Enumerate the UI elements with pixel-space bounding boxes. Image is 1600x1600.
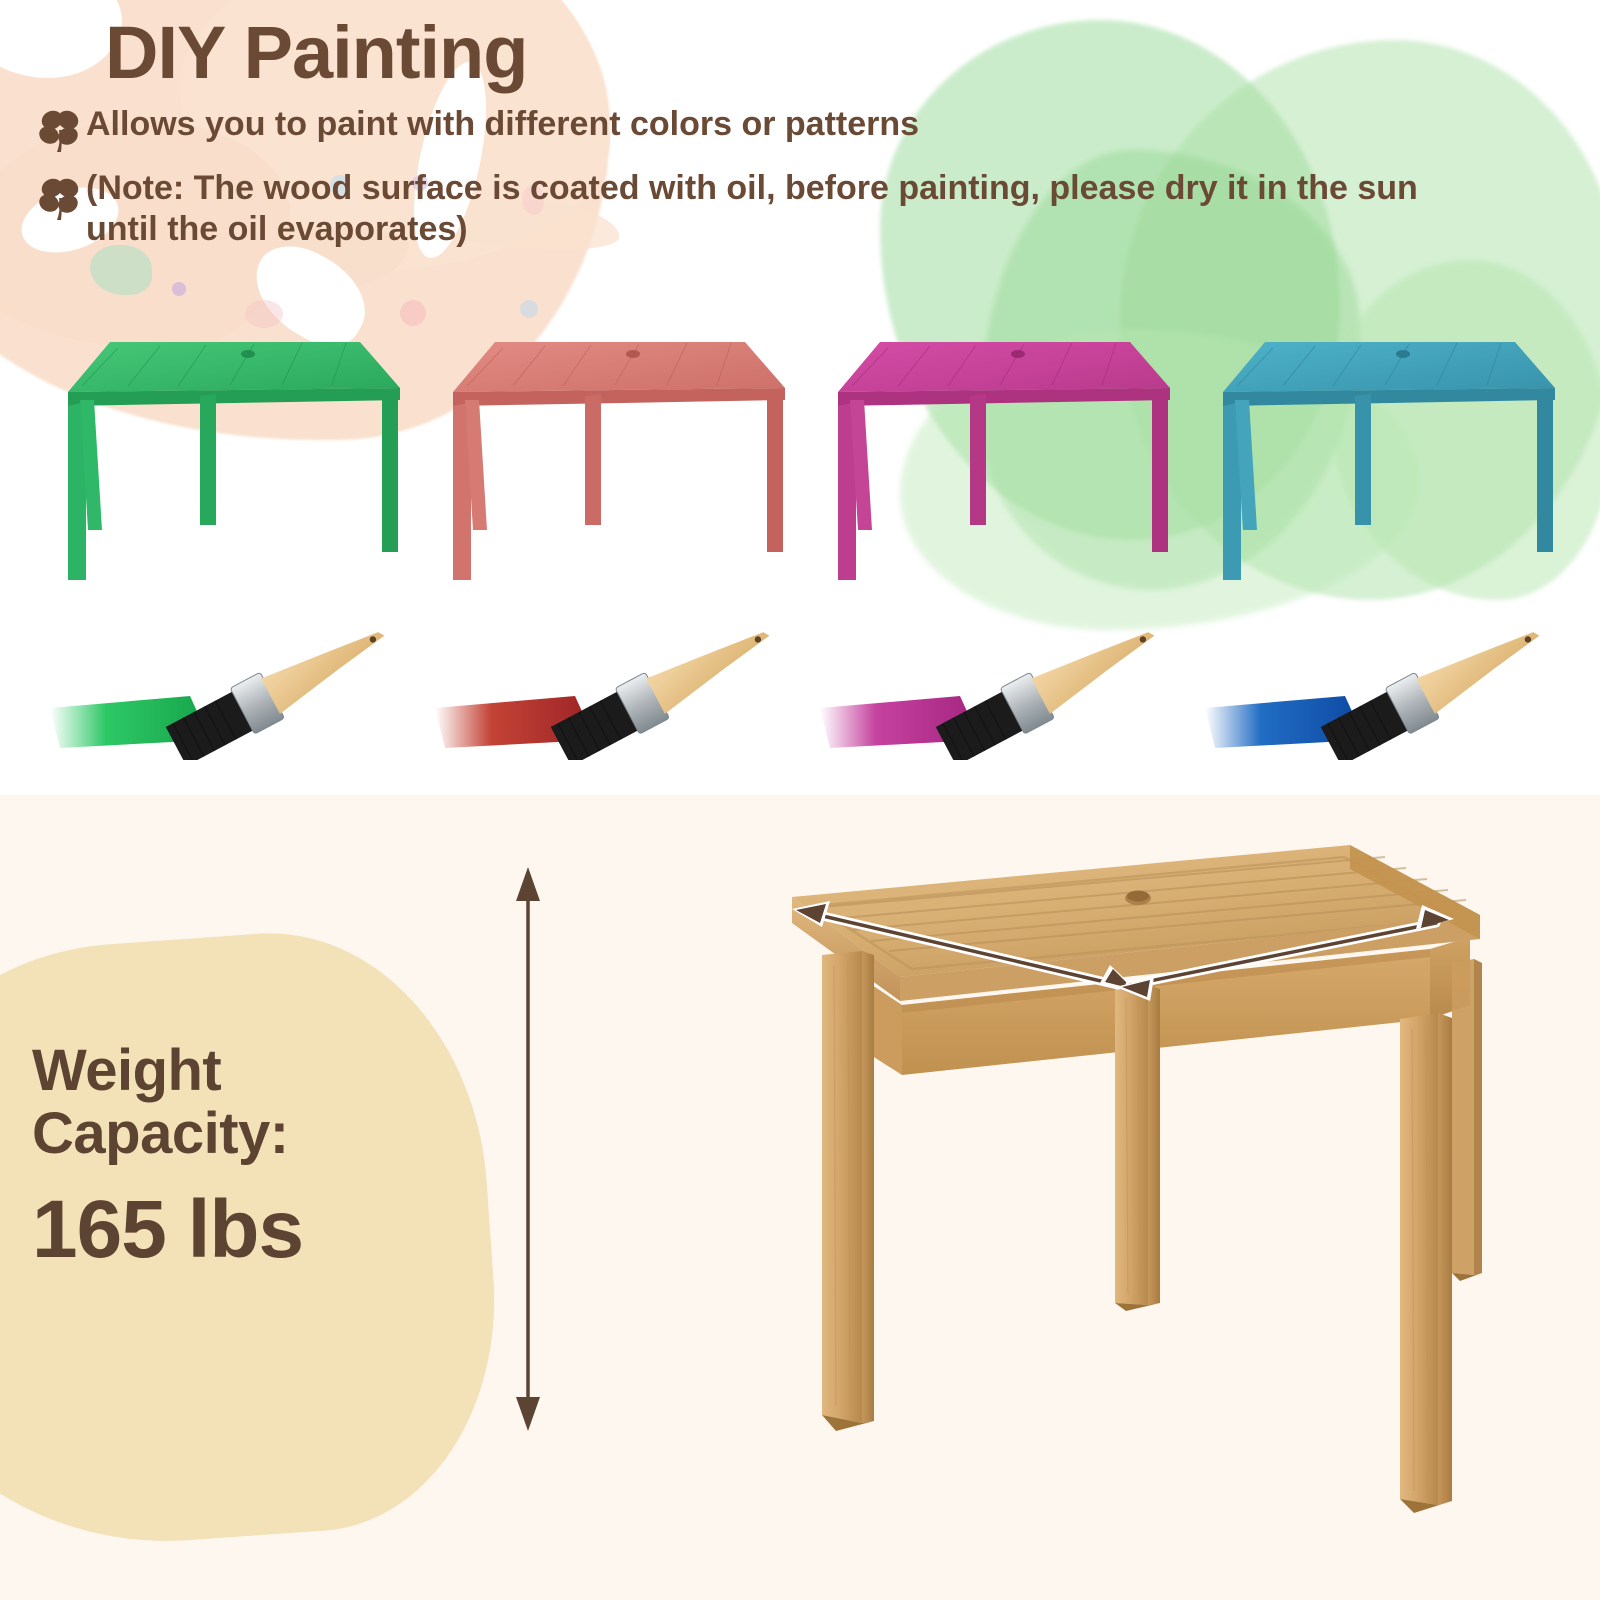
paint-droplet xyxy=(172,282,186,296)
red-paint-brush xyxy=(435,600,795,760)
wooden-table-illustration xyxy=(470,805,1600,1595)
feature-bullet-2: (Note: The wood surface is coated with o… xyxy=(34,168,1600,251)
weight-capacity-label-line2: Capacity: xyxy=(32,1103,452,1166)
pink-paint-brush xyxy=(820,600,1180,760)
clover-icon xyxy=(34,174,86,222)
color-options-row xyxy=(0,330,1600,770)
weight-capacity-block: Weight Capacity: 165 lbs xyxy=(32,1040,452,1277)
paint-droplet xyxy=(400,300,426,326)
diy-painting-section: DIY Painting Allows you to paint with di… xyxy=(0,0,1600,795)
blue-paint-brush xyxy=(1205,600,1565,760)
feature-bullet-1: Allows you to paint with different color… xyxy=(34,100,1600,154)
clover-icon xyxy=(34,106,86,154)
paint-droplet xyxy=(245,300,283,328)
dimensions-section: Weight Capacity: 165 lbs xyxy=(0,795,1600,1600)
weight-capacity-label: Weight Capacity: xyxy=(32,1040,452,1165)
weight-capacity-label-line1: Weight xyxy=(32,1040,452,1103)
blue-table-option xyxy=(1165,330,1565,770)
pink-table-option xyxy=(780,330,1180,770)
paint-droplet xyxy=(520,300,538,318)
page-title: DIY Painting xyxy=(105,14,1600,92)
red-table-option xyxy=(395,330,795,770)
feature-bullet-1-text: Allows you to paint with different color… xyxy=(86,100,919,145)
paint-droplet xyxy=(90,245,152,295)
feature-bullet-2-text: (Note: The wood surface is coated with o… xyxy=(86,168,1496,251)
weight-capacity-value: 165 lbs xyxy=(32,1183,452,1277)
green-paint-brush xyxy=(50,600,410,760)
green-table-option xyxy=(10,330,410,770)
heading-block: DIY Painting Allows you to paint with di… xyxy=(0,0,1600,251)
